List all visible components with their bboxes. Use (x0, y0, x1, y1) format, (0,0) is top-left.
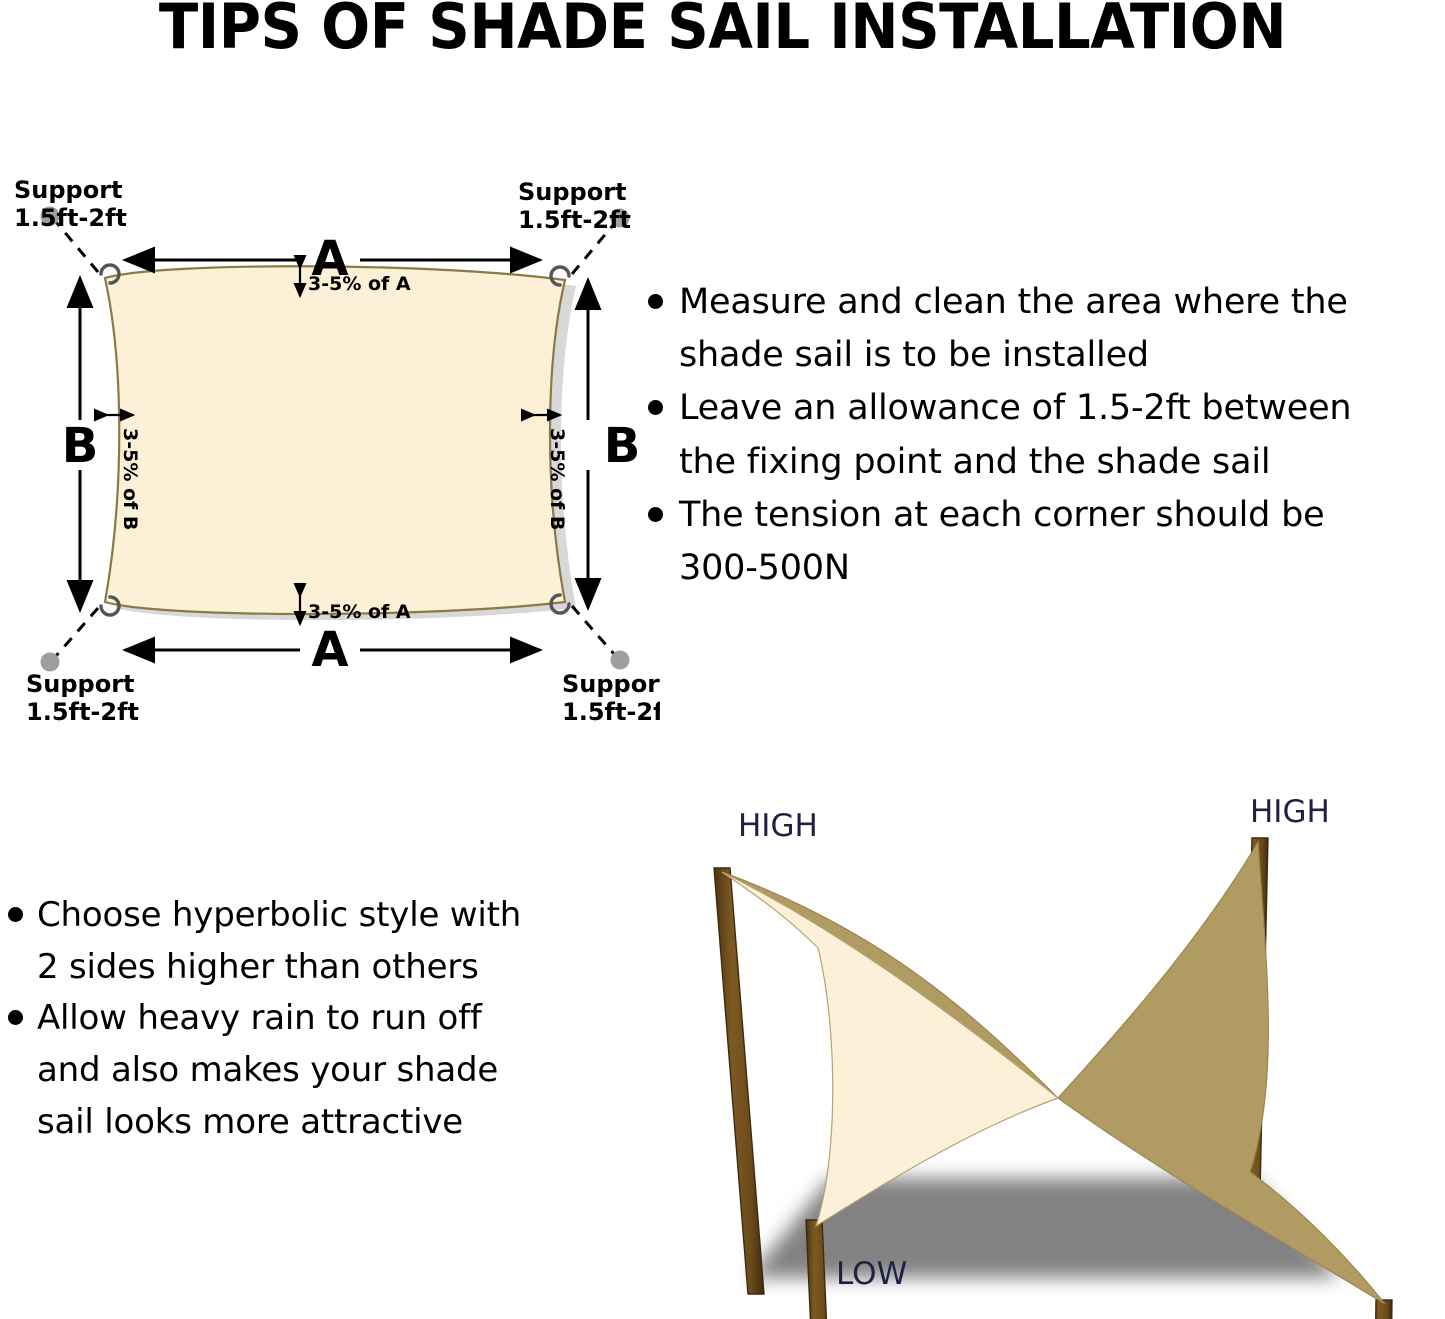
tip-2-line-2: the fixing point and the shade sail (679, 442, 1270, 482)
list-item: Allow heavy rain to run off and also mak… (8, 993, 628, 1148)
support-label-top-right-line2: 1.5ft-2ft (518, 206, 631, 234)
hyper-tip-2-line-1: Allow heavy rain to run off (37, 998, 482, 1038)
list-item: The tension at each corner should be 300… (648, 489, 1445, 595)
tolerance-label-bottom: 3-5% of A (308, 601, 411, 623)
tip-3-line-2: 300-500N (679, 548, 850, 588)
tolerance-label-left: 3-5% of B (119, 428, 141, 530)
support-cable-bottom-left (56, 608, 98, 656)
support-label-top-right: Support 1.5ft-2ft (518, 178, 631, 234)
support-label-top-left: Support 1.5ft-2ft (14, 176, 127, 232)
tip-text-1: Measure and clean the area where the sha… (679, 276, 1348, 382)
hyper-tip-1-line-1: Choose hyperbolic style with (37, 895, 521, 935)
rectangular-sail-diagram: A A B B 3-5% of A 3-5% of A 3-5% of B 3-… (0, 150, 660, 730)
support-label-bottom-left: Support 1.5ft-2ft (26, 670, 139, 726)
support-label-bottom-right-line2: 1.5ft-2ft (562, 698, 660, 726)
support-anchor-bottom-right (611, 651, 630, 670)
tip-1-line-1: Measure and clean the area where the (679, 282, 1348, 322)
support-anchor-bottom-left (41, 653, 60, 672)
hyperbolic-tips-list: Choose hyperbolic style with 2 sides hig… (8, 890, 628, 1148)
support-label-top-left-line1: Support (14, 176, 123, 204)
support-cable-bottom-right (572, 606, 614, 654)
sail-body (105, 266, 565, 614)
tip-2-line-1: Leave an allowance of 1.5-2ft between (679, 388, 1351, 428)
bullet-dot-icon (8, 1010, 23, 1025)
hyper-tip-text-2: Allow heavy rain to run off and also mak… (37, 993, 498, 1148)
hyper-tip-text-1: Choose hyperbolic style with 2 sides hig… (37, 890, 521, 993)
post-label-back-left: HIGH (738, 808, 818, 844)
support-label-bottom-right-line1: Support (562, 670, 660, 698)
support-label-bottom-left-line2: 1.5ft-2ft (26, 698, 139, 726)
tip-3-line-1: The tension at each corner should be (679, 495, 1324, 535)
post-back-left-high (714, 868, 764, 1294)
tip-text-2: Leave an allowance of 1.5-2ft between th… (679, 382, 1351, 488)
tip-text-3: The tension at each corner should be 300… (679, 489, 1324, 595)
bullet-dot-icon (648, 400, 663, 415)
list-item: Choose hyperbolic style with 2 sides hig… (8, 890, 628, 993)
tolerance-label-top: 3-5% of A (308, 273, 411, 295)
bullet-dot-icon (648, 507, 663, 522)
support-label-top-right-line1: Support (518, 178, 627, 206)
hyper-tip-1-line-2: 2 sides higher than others (37, 947, 479, 987)
bullet-dot-icon (8, 907, 23, 922)
tip-1-line-2: shade sail is to be installed (679, 335, 1149, 375)
post-label-back-right: HIGH (1250, 794, 1330, 830)
hyper-tip-2-line-2: and also makes your shade (37, 1050, 498, 1090)
support-label-bottom-right: Support 1.5ft-2ft (562, 670, 660, 726)
dimension-label-right-B: B (604, 418, 641, 474)
dimension-label-left-B: B (62, 418, 99, 474)
page-title: TIPS OF SHADE SAIL INSTALLATION (51, 0, 1395, 58)
dimension-label-bottom-A: A (311, 622, 348, 678)
list-item: Leave an allowance of 1.5-2ft between th… (648, 382, 1445, 488)
support-label-top-left-line2: 1.5ft-2ft (14, 204, 127, 232)
tolerance-label-right: 3-5% of B (546, 428, 568, 530)
bullet-dot-icon (648, 294, 663, 309)
installation-tips-list: Measure and clean the area where the sha… (648, 276, 1445, 595)
support-label-bottom-left-line1: Support (26, 670, 135, 698)
hyperbolic-sail-diagram: HIGH HIGH LOW LOW (640, 780, 1445, 1319)
list-item: Measure and clean the area where the sha… (648, 276, 1445, 382)
post-label-front-left: LOW (836, 1256, 907, 1292)
hyper-tip-2-line-3: sail looks more attractive (37, 1102, 463, 1142)
